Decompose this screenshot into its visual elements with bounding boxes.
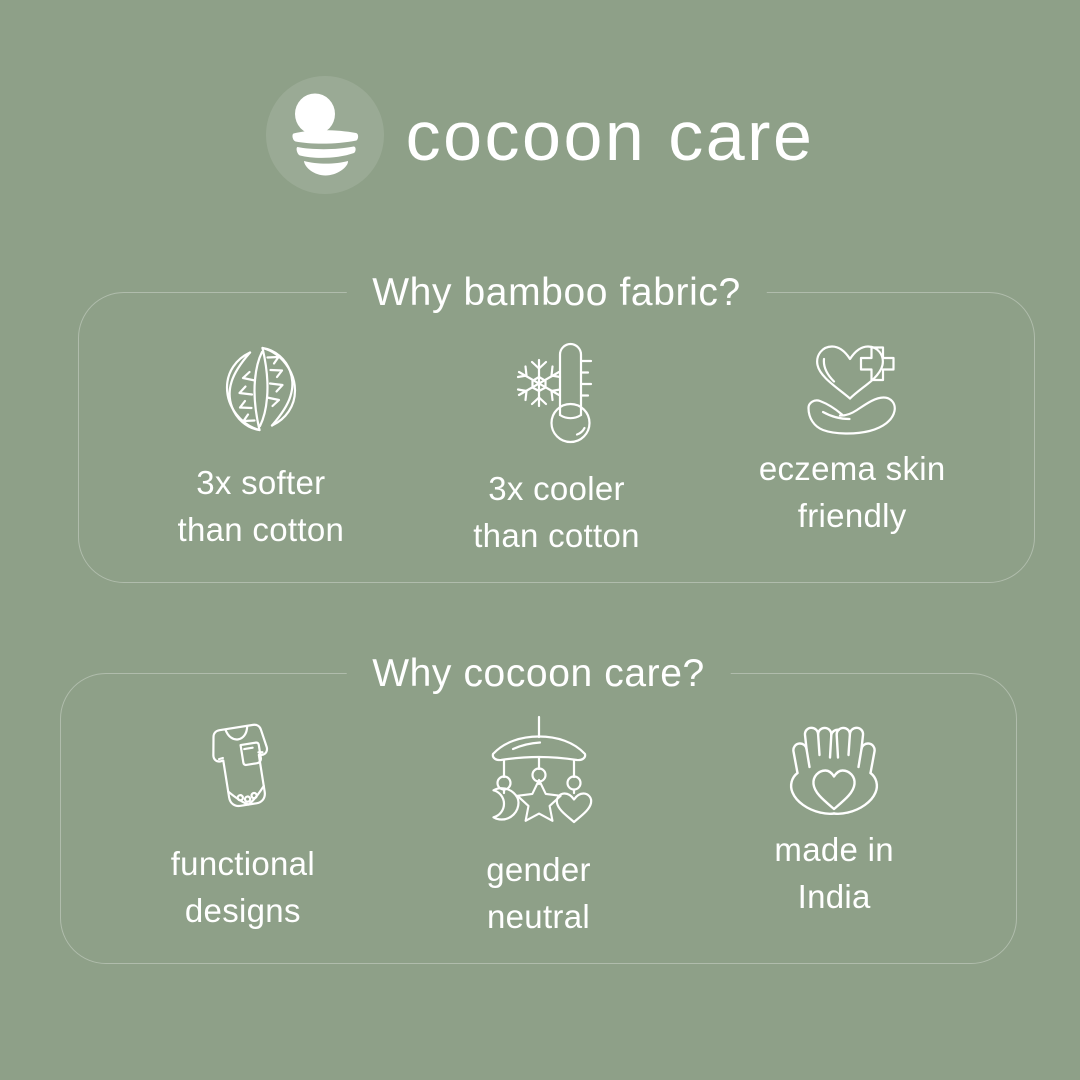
feature-label: 3x softer than cotton [178, 459, 345, 553]
feature-icon-wrap [202, 327, 320, 451]
feature-icon-wrap [480, 708, 598, 832]
feature-icon-wrap [775, 708, 893, 832]
thermometer-snowflake-icon [498, 330, 616, 448]
hand-heart-medical-cross-icon [793, 330, 911, 448]
brand-header: cocoon care [0, 70, 1080, 200]
feature-label: functional designs [171, 840, 315, 934]
feature-icon-wrap [498, 327, 616, 451]
hands-heart-icon [775, 711, 893, 829]
feature-eczema[interactable]: eczema skin friendly [704, 327, 1000, 539]
feature-row-bamboo: 3x softer than cotton [79, 293, 1034, 582]
crib-mobile-icon [480, 711, 598, 829]
feature-icon-wrap [184, 708, 302, 832]
feature-cooler[interactable]: 3x cooler than cotton [409, 327, 705, 559]
feature-functional-designs[interactable]: functional designs [95, 708, 391, 934]
feature-icon-wrap [793, 327, 911, 451]
feature-softer[interactable]: 3x softer than cotton [113, 327, 409, 553]
feature-made-in-india[interactable]: made in India [686, 708, 982, 920]
feathers-icon [202, 330, 320, 448]
infographic-canvas: cocoon care Why bamboo fabric? [0, 0, 1080, 1080]
feature-label: gender neutral [486, 846, 591, 940]
feature-row-cocoon: functional designs [61, 674, 1016, 963]
baby-onesie-icon [184, 711, 302, 829]
feature-label: eczema skin friendly [759, 445, 946, 539]
feature-label: made in India [774, 826, 894, 920]
feature-label: 3x cooler than cotton [473, 465, 640, 559]
cocoon-baby-logo-icon [279, 89, 371, 181]
feature-gender-neutral[interactable]: gender neutral [391, 708, 687, 940]
brand-name: cocoon care [406, 101, 815, 171]
card-why-cocoon-care: Why cocoon care? [60, 673, 1017, 964]
card-why-bamboo-fabric: Why bamboo fabric? [78, 292, 1035, 583]
brand-logo-badge [266, 76, 384, 194]
